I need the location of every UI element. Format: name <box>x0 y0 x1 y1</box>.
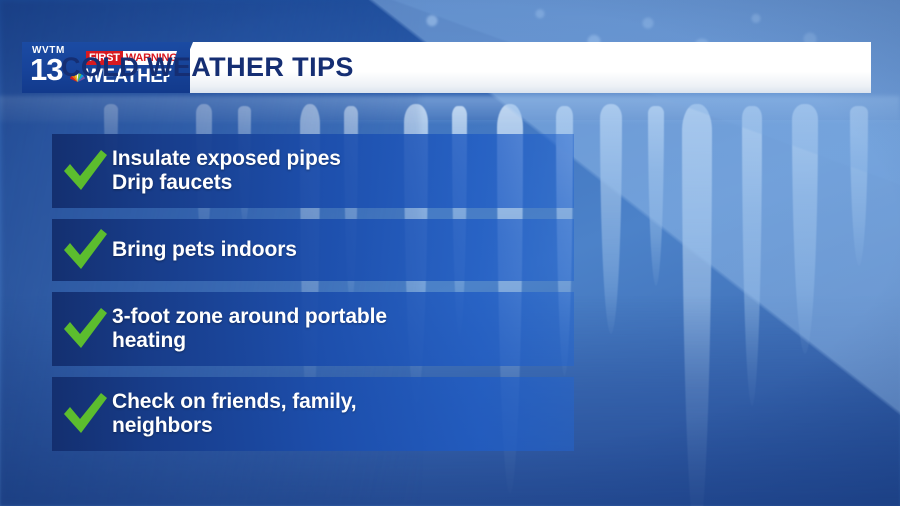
check-mark-icon <box>58 306 112 352</box>
list-item: 3-foot zone around portable heating <box>52 292 574 366</box>
list-item: Check on friends, family, neighbors <box>52 377 574 451</box>
channel-number: 13 <box>30 54 62 85</box>
list-item-text: Check on friends, family, neighbors <box>112 390 367 438</box>
list-item-line: 3-foot zone around portable <box>112 305 387 329</box>
list-item-line: Insulate exposed pipes <box>112 147 341 171</box>
list-item-text: Bring pets indoors <box>112 238 307 262</box>
list-item: Insulate exposed pipes Drip faucets <box>52 134 574 208</box>
list-item-line: Bring pets indoors <box>112 238 297 262</box>
weather-graphic: WVTM 13 FIRST WARNING <box>0 0 900 506</box>
check-mark-icon <box>58 391 112 437</box>
page-title: COLD WEATHER TIPS <box>61 51 354 84</box>
list-item-line: Check on friends, family, <box>112 390 357 414</box>
list-item-line: heating <box>112 329 387 353</box>
list-item-text: 3-foot zone around portable heating <box>112 305 397 353</box>
list-item-line: Drip faucets <box>112 171 341 195</box>
list-item: Bring pets indoors <box>52 219 574 281</box>
list-item-text: Insulate exposed pipes Drip faucets <box>112 147 351 195</box>
check-mark-icon <box>58 227 112 273</box>
tips-list: Insulate exposed pipes Drip faucets Brin… <box>52 134 574 462</box>
list-item-line: neighbors <box>112 414 357 438</box>
check-mark-icon <box>58 148 112 194</box>
header: WVTM 13 FIRST WARNING <box>22 42 871 93</box>
